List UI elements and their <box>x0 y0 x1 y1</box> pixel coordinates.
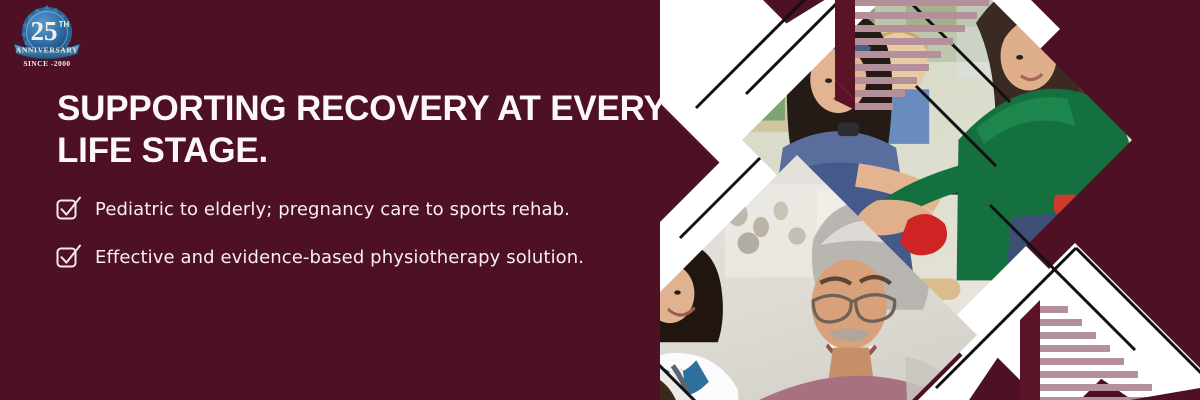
headline-line-1: SUPPORTING RECOVERY AT EVERY <box>57 89 667 128</box>
page-title: SUPPORTING RECOVERY AT EVERY LIFE STAGE. <box>57 88 677 172</box>
feature-list: Pediatric to elderly; pregnancy care to … <box>55 197 695 293</box>
photo-collage <box>660 0 1200 400</box>
checkbox-checked-icon <box>55 244 81 270</box>
badge-number: 25 <box>31 16 58 46</box>
list-item-label: Pediatric to elderly; pregnancy care to … <box>95 199 570 221</box>
badge-ordinal: TH <box>59 20 70 29</box>
hero-banner: 25 TH ANNIVERSARY SINCE -2000 SUPPORTING… <box>0 0 1200 400</box>
list-item: Effective and evidence-based physiothera… <box>55 245 695 271</box>
badge-since-text: SINCE -2000 <box>23 59 70 68</box>
badge-anniversary-word: ANNIVERSARY <box>16 46 78 55</box>
headline-line-2: LIFE STAGE. <box>57 131 268 170</box>
hero-text-column: 25 TH ANNIVERSARY SINCE -2000 SUPPORTING… <box>0 0 740 400</box>
list-item-label: Effective and evidence-based physiothera… <box>95 247 584 269</box>
list-item: Pediatric to elderly; pregnancy care to … <box>55 197 695 223</box>
anniversary-seal-icon: 25 TH ANNIVERSARY SINCE -2000 <box>8 4 86 72</box>
checkbox-checked-icon <box>55 196 81 222</box>
